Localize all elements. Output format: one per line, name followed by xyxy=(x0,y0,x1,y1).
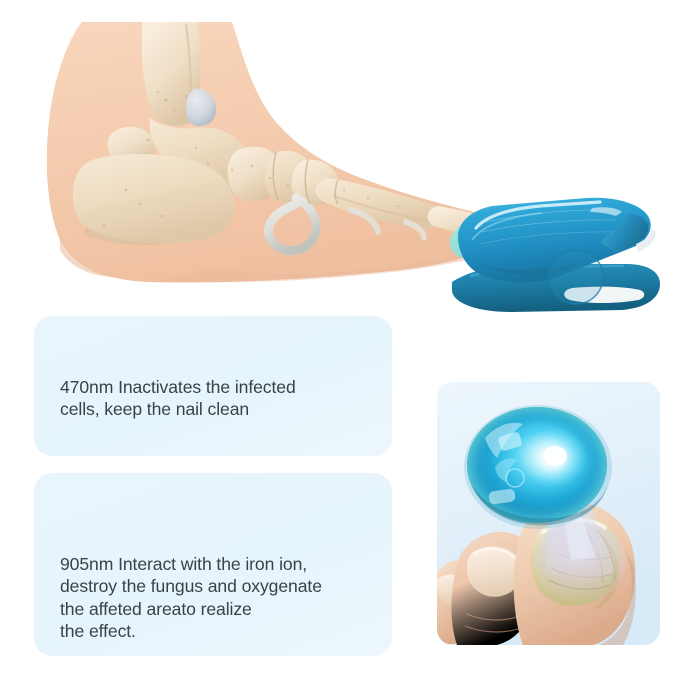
blue-light-card-title: 470NM BLUE LIGHT xyxy=(60,342,267,367)
blue-light-card: 470NM BLUE LIGHT 470nm Inactivates the i… xyxy=(34,316,392,456)
infrared-laser-card-title: 905NM INFRARED COLD LASER LIGHT xyxy=(60,497,317,547)
laser-on-toenail-photo xyxy=(437,382,660,645)
foot-anatomy-illustration xyxy=(0,0,700,330)
device-hinge-fill xyxy=(549,250,603,304)
emitter-hotspot-core xyxy=(543,446,567,466)
blue-light-card-body: 470nm Inactivates the infected cells, ke… xyxy=(60,376,380,421)
infrared-laser-card-body: 905nm Interact with the iron ion, destro… xyxy=(60,553,390,642)
infrared-laser-card: 905NM INFRARED COLD LASER LIGHT 905nm In… xyxy=(34,473,392,656)
infographic-page: 470NM BLUE LIGHT 470nm Inactivates the i… xyxy=(0,0,700,700)
